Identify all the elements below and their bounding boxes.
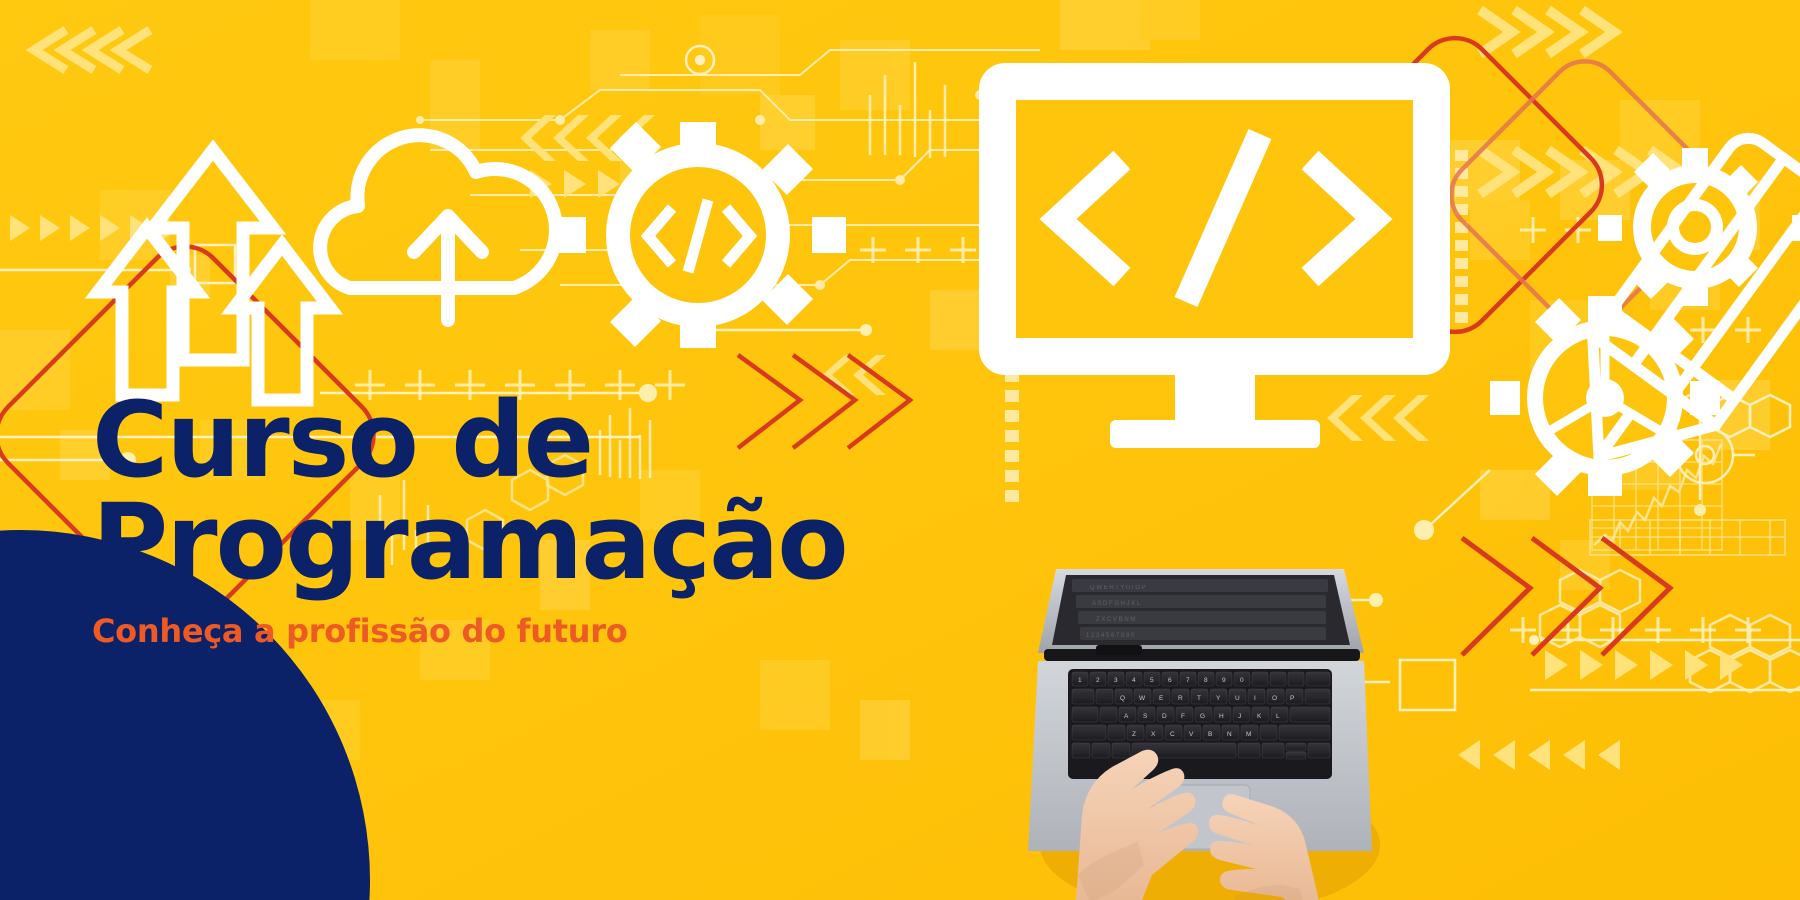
course-banner: Q W E R T Y U I O P A S D F G H J K L Z … — [0, 0, 1800, 900]
svg-text:R: R — [1178, 695, 1183, 702]
svg-text:P: P — [1290, 695, 1294, 702]
svg-text:I: I — [1254, 695, 1256, 702]
svg-text:7: 7 — [1186, 677, 1190, 684]
svg-text:Z X C V B N M: Z X C V B N M — [1096, 617, 1135, 623]
svg-text:M: M — [1246, 731, 1251, 738]
svg-text:A S D F G H J K L: A S D F G H J K L — [1092, 601, 1141, 607]
svg-text:U: U — [1235, 695, 1240, 702]
svg-text:A: A — [1124, 713, 1129, 720]
svg-text:F: F — [1181, 713, 1185, 720]
svg-text:1 2 3 4 5 6 7 8 9 0: 1 2 3 4 5 6 7 8 9 0 — [1086, 633, 1135, 639]
svg-text:3: 3 — [1114, 677, 1118, 684]
svg-text:T: T — [1197, 695, 1201, 702]
svg-text:8: 8 — [1204, 677, 1208, 684]
svg-text:Y: Y — [1216, 695, 1221, 702]
svg-text:J: J — [1238, 713, 1241, 720]
svg-text:G: G — [1200, 713, 1205, 720]
svg-text:X: X — [1151, 731, 1156, 738]
svg-text:L: L — [1276, 713, 1280, 720]
svg-text:E: E — [1159, 695, 1164, 702]
laptop-hands-photo: Q W E R T Y U I O P A S D F G H J K L Z … — [1020, 545, 1380, 900]
svg-text:4: 4 — [1132, 677, 1136, 684]
svg-text:6: 6 — [1168, 677, 1172, 684]
svg-text:2: 2 — [1096, 677, 1100, 684]
svg-text:D: D — [1162, 713, 1167, 720]
svg-text:N: N — [1227, 731, 1232, 738]
svg-text:5: 5 — [1150, 677, 1154, 684]
svg-text:B: B — [1208, 731, 1212, 738]
svg-text:W: W — [1139, 695, 1146, 702]
svg-text:0: 0 — [1240, 677, 1244, 684]
svg-text:1: 1 — [1078, 677, 1082, 684]
svg-text:Q W E R T Y U I O P: Q W E R T Y U I O P — [1090, 585, 1146, 591]
svg-text:V: V — [1189, 731, 1194, 738]
headline-line-2: Programação — [92, 492, 847, 594]
svg-text:S: S — [1143, 713, 1148, 720]
svg-text:Q: Q — [1120, 695, 1125, 702]
svg-text:O: O — [1272, 695, 1277, 702]
banner-text-block: Curso deProgramação Conheça a profissão … — [92, 390, 847, 650]
subtitle: Conheça a profissão do futuro — [92, 612, 847, 650]
page-title: Curso deProgramação — [92, 390, 847, 594]
svg-text:9: 9 — [1222, 677, 1226, 684]
svg-text:Z: Z — [1132, 731, 1136, 738]
svg-text:C: C — [1170, 731, 1175, 738]
svg-text:K: K — [1257, 713, 1262, 720]
svg-text:H: H — [1219, 713, 1224, 720]
